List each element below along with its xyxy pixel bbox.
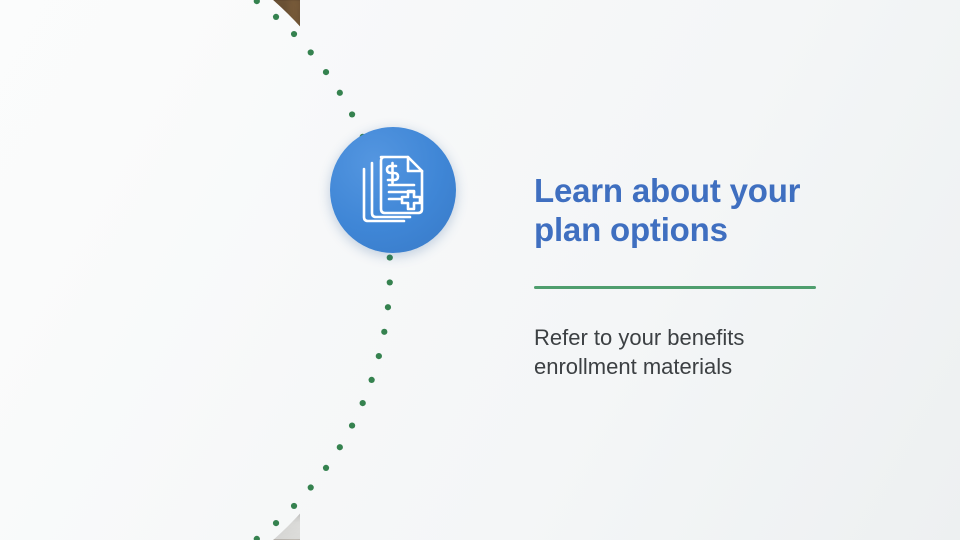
arc-dot (291, 503, 297, 509)
arc-dot (337, 90, 343, 96)
page-title: Learn about your plan options (534, 172, 934, 250)
dotted-arc-dots (119, 0, 393, 540)
arc-dot (387, 254, 393, 260)
arc-dot (387, 279, 393, 285)
slide-canvas: Learn about your plan options Refer to y… (0, 0, 960, 540)
plan-documents-badge (330, 127, 456, 253)
arc-dot (376, 353, 382, 359)
subtitle-text: Refer to your benefits enrollment materi… (534, 323, 934, 382)
arc-dot (254, 536, 260, 540)
arc-dot (308, 484, 314, 490)
arc-dot (381, 329, 387, 335)
arc-dot (337, 444, 343, 450)
text-content-block: Learn about your plan options Refer to y… (534, 172, 934, 381)
arc-dot (349, 111, 355, 117)
arc-dot (291, 31, 297, 37)
stacked-documents-dollar-medical-cross-icon (356, 151, 430, 229)
arc-dot (360, 400, 366, 406)
arc-dot (308, 49, 314, 55)
arc-dot (385, 304, 391, 310)
arc-dot (323, 465, 329, 471)
title-divider-rule (534, 286, 816, 289)
arc-dot (273, 520, 279, 526)
arc-dot (273, 14, 279, 20)
arc-dot (349, 422, 355, 428)
arc-dot (323, 69, 329, 75)
arc-dot (254, 0, 260, 4)
arc-dot (369, 377, 375, 383)
